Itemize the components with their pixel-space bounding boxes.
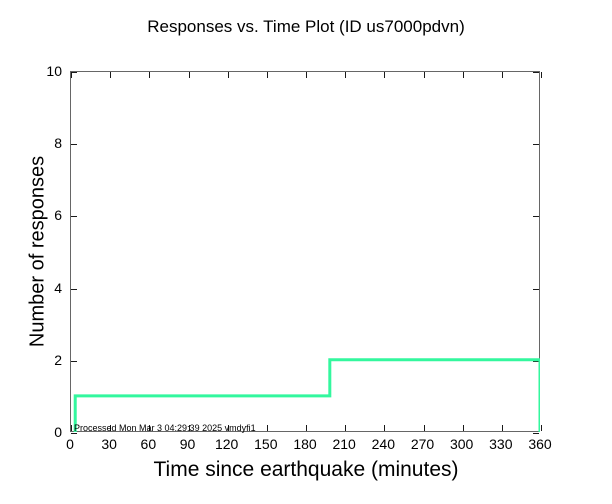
y-tick-label: 0: [42, 424, 62, 440]
x-tick-label: 270: [411, 436, 434, 452]
x-tick-label: 30: [101, 436, 117, 452]
x-tick-label: 360: [528, 436, 551, 452]
response-step-line: [75, 360, 540, 432]
processing-stamp: Processed Mon Mar 3 04:29:39 2025 vmdyfi…: [74, 423, 256, 433]
x-tick-label: 240: [372, 436, 395, 452]
y-tick-label: 10: [42, 63, 62, 79]
x-tick-label: 120: [215, 436, 238, 452]
x-tick-label: 60: [141, 436, 157, 452]
x-axis-label: Time since earthquake (minutes): [0, 458, 612, 482]
x-tick-label: 150: [254, 436, 277, 452]
y-axis-label: Number of responses: [27, 102, 50, 402]
y-tick-mark: [71, 433, 77, 434]
chart-canvas: Responses vs. Time Plot (ID us7000pdvn) …: [0, 0, 612, 504]
x-tick-label: 330: [489, 436, 512, 452]
y-tick-mark: [533, 433, 539, 434]
x-tick-label: 210: [332, 436, 355, 452]
x-tick-label: 300: [450, 436, 473, 452]
x-tick-mark: [541, 425, 542, 431]
x-tick-label: 180: [293, 436, 316, 452]
x-tick-mark: [541, 72, 542, 78]
data-series-layer: [70, 71, 540, 432]
x-tick-label: 90: [180, 436, 196, 452]
page-title: Responses vs. Time Plot (ID us7000pdvn): [0, 17, 612, 37]
x-tick-label: 0: [66, 436, 74, 452]
